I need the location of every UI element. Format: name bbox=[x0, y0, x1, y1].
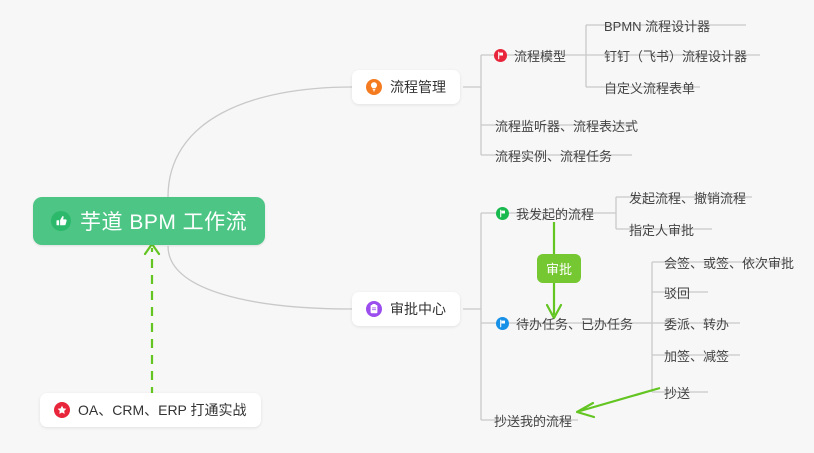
node-oa-crm-erp-label: OA、CRM、ERP 打通实战 bbox=[78, 400, 247, 420]
node-delegate-transfer-label: 委派、转办 bbox=[664, 314, 729, 333]
node-process-management[interactable]: 流程管理 bbox=[352, 70, 460, 104]
node-process-instance-task-label: 流程实例、流程任务 bbox=[495, 146, 612, 165]
flag-icon bbox=[496, 317, 509, 330]
flag-icon bbox=[496, 207, 509, 220]
node-start-cancel-process-label: 发起流程、撤销流程 bbox=[629, 188, 746, 207]
thumbs-up-icon bbox=[51, 211, 71, 231]
node-dingtalk-feishu-designer-label: 钉钉（飞书）流程设计器 bbox=[604, 46, 747, 65]
mindmap-canvas: 芋道 BPM 工作流 流程管理 流程模型 BPMN 流程设计器 钉钉（飞书）流 bbox=[0, 0, 814, 453]
arrow-cc-to-ccme bbox=[577, 388, 660, 417]
lightbulb-icon bbox=[366, 79, 382, 95]
node-countersign-orsign-sequential-label: 会签、或签、依次审批 bbox=[664, 253, 794, 272]
node-bpmn-designer[interactable]: BPMN 流程设计器 bbox=[600, 14, 714, 36]
node-process-listener-expression-label: 流程监听器、流程表达式 bbox=[495, 116, 638, 135]
node-assignee-approval-label: 指定人审批 bbox=[629, 220, 694, 239]
arrow-oa-to-root bbox=[145, 244, 159, 396]
node-todo-done-tasks-label: 待办任务、已办任务 bbox=[516, 314, 633, 333]
node-todo-done-tasks[interactable]: 待办任务、已办任务 bbox=[492, 312, 637, 334]
tag-approval[interactable]: 审批 bbox=[537, 254, 581, 283]
clipboard-icon bbox=[366, 301, 382, 317]
star-icon bbox=[54, 402, 70, 418]
node-cc-label: 抄送 bbox=[664, 383, 690, 402]
node-delegate-transfer[interactable]: 委派、转办 bbox=[660, 312, 733, 334]
node-bpmn-designer-label: BPMN 流程设计器 bbox=[604, 16, 710, 35]
node-process-management-label: 流程管理 bbox=[390, 77, 446, 97]
node-countersign-orsign-sequential[interactable]: 会签、或签、依次审批 bbox=[660, 251, 798, 273]
node-cc-to-me-process-label: 抄送我的流程 bbox=[494, 411, 572, 430]
node-add-remove-sign-label: 加签、减签 bbox=[664, 346, 729, 365]
node-dingtalk-feishu-designer[interactable]: 钉钉（飞书）流程设计器 bbox=[600, 44, 751, 66]
wire-root-to-process-management bbox=[168, 87, 352, 197]
node-add-remove-sign[interactable]: 加签、减签 bbox=[660, 344, 733, 366]
root-node[interactable]: 芋道 BPM 工作流 bbox=[33, 197, 265, 245]
wire-root-to-approval-center bbox=[168, 246, 352, 309]
node-cc[interactable]: 抄送 bbox=[660, 381, 694, 403]
tag-approval-label: 审批 bbox=[546, 262, 572, 277]
node-reject[interactable]: 驳回 bbox=[660, 281, 694, 303]
node-my-initiated-process[interactable]: 我发起的流程 bbox=[492, 202, 598, 224]
node-start-cancel-process[interactable]: 发起流程、撤销流程 bbox=[625, 186, 750, 208]
root-label: 芋道 BPM 工作流 bbox=[80, 206, 247, 236]
node-my-initiated-process-label: 我发起的流程 bbox=[516, 204, 594, 223]
node-custom-process-form-label: 自定义流程表单 bbox=[604, 78, 695, 97]
node-cc-to-me-process[interactable]: 抄送我的流程 bbox=[490, 409, 576, 431]
flag-icon bbox=[494, 49, 507, 62]
node-approval-center[interactable]: 审批中心 bbox=[352, 292, 460, 326]
node-reject-label: 驳回 bbox=[664, 283, 690, 302]
node-process-model[interactable]: 流程模型 bbox=[490, 44, 570, 66]
node-assignee-approval[interactable]: 指定人审批 bbox=[625, 218, 698, 240]
node-approval-center-label: 审批中心 bbox=[390, 299, 446, 319]
node-process-model-label: 流程模型 bbox=[514, 46, 566, 65]
node-process-listener-expression[interactable]: 流程监听器、流程表达式 bbox=[491, 114, 642, 136]
node-oa-crm-erp[interactable]: OA、CRM、ERP 打通实战 bbox=[40, 393, 261, 427]
node-custom-process-form[interactable]: 自定义流程表单 bbox=[600, 76, 699, 98]
node-process-instance-task[interactable]: 流程实例、流程任务 bbox=[491, 144, 616, 166]
